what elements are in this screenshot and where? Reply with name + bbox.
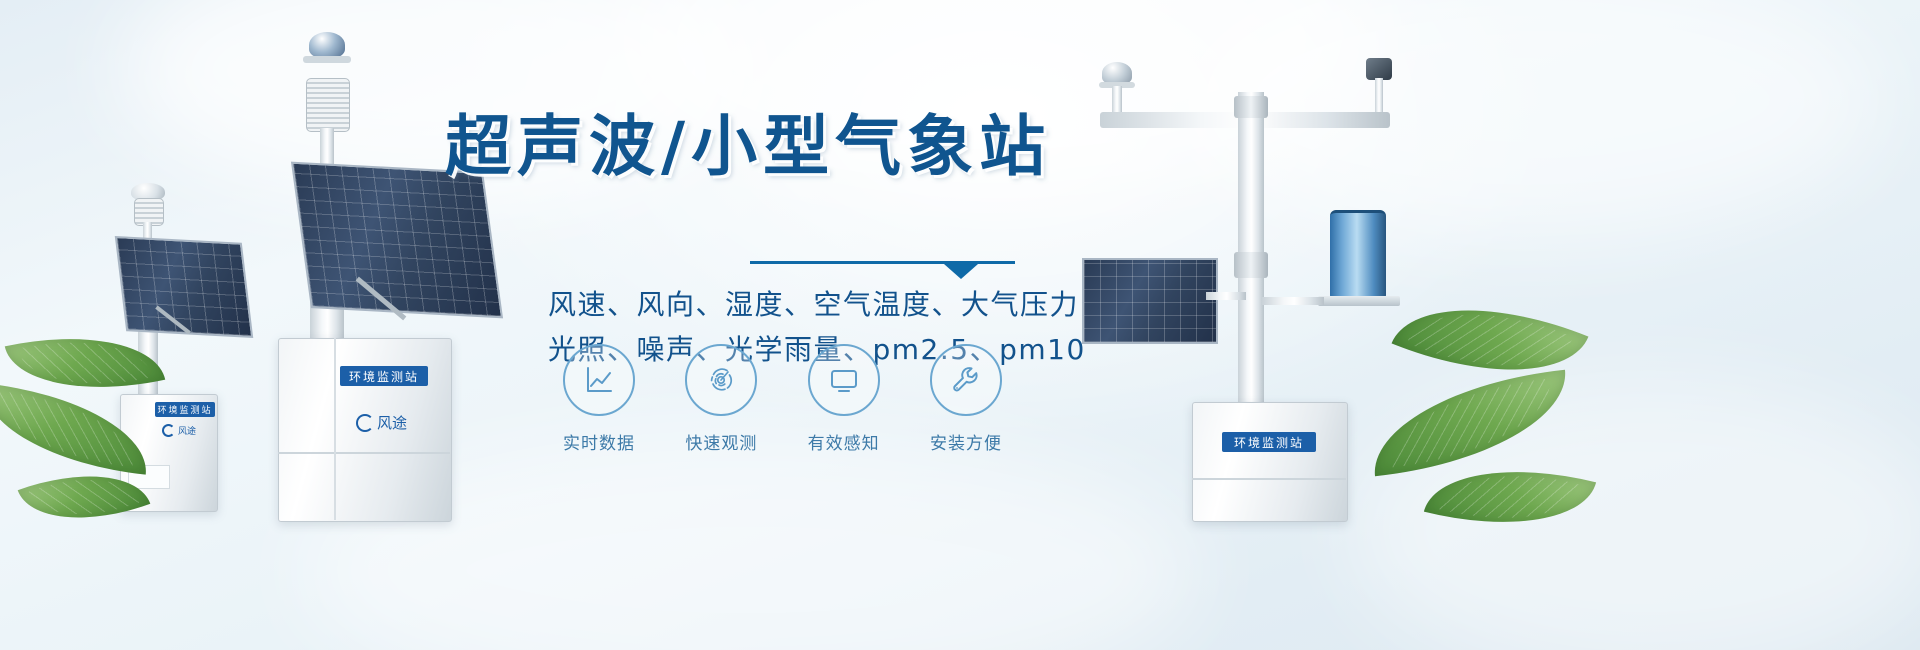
subtitle-line-1: 风速、风向、湿度、空气温度、大气压力 (548, 282, 1018, 327)
title-divider (750, 261, 1015, 264)
radar-scan-icon (685, 344, 757, 416)
monitor-screen-icon (808, 344, 880, 416)
banner-content: 超声波/小型气象站 风速、风向、湿度、空气温度、大气压力 光照、噪声、光学雨量、… (0, 0, 1920, 650)
feature-list: 实时数据 快速观测 (545, 344, 1020, 459)
feature-item-fast-observation[interactable]: 快速观测 (667, 344, 775, 454)
line-chart-icon (563, 344, 635, 416)
feature-item-realtime-data[interactable]: 实时数据 (545, 344, 653, 454)
page-title: 超声波/小型气象站 (445, 110, 1125, 184)
feature-label: 实时数据 (563, 429, 635, 454)
banner-root: 环境监测站 风途 环境监测站 风途 (0, 0, 1920, 650)
feature-label: 有效感知 (808, 429, 880, 454)
feature-item-easy-installation[interactable]: 安装方便 (912, 344, 1020, 454)
feature-item-effective-sensing[interactable]: 有效感知 (790, 344, 898, 454)
wrench-icon (930, 344, 1002, 416)
feature-label: 安装方便 (930, 429, 1002, 454)
feature-label: 快速观测 (685, 429, 757, 454)
